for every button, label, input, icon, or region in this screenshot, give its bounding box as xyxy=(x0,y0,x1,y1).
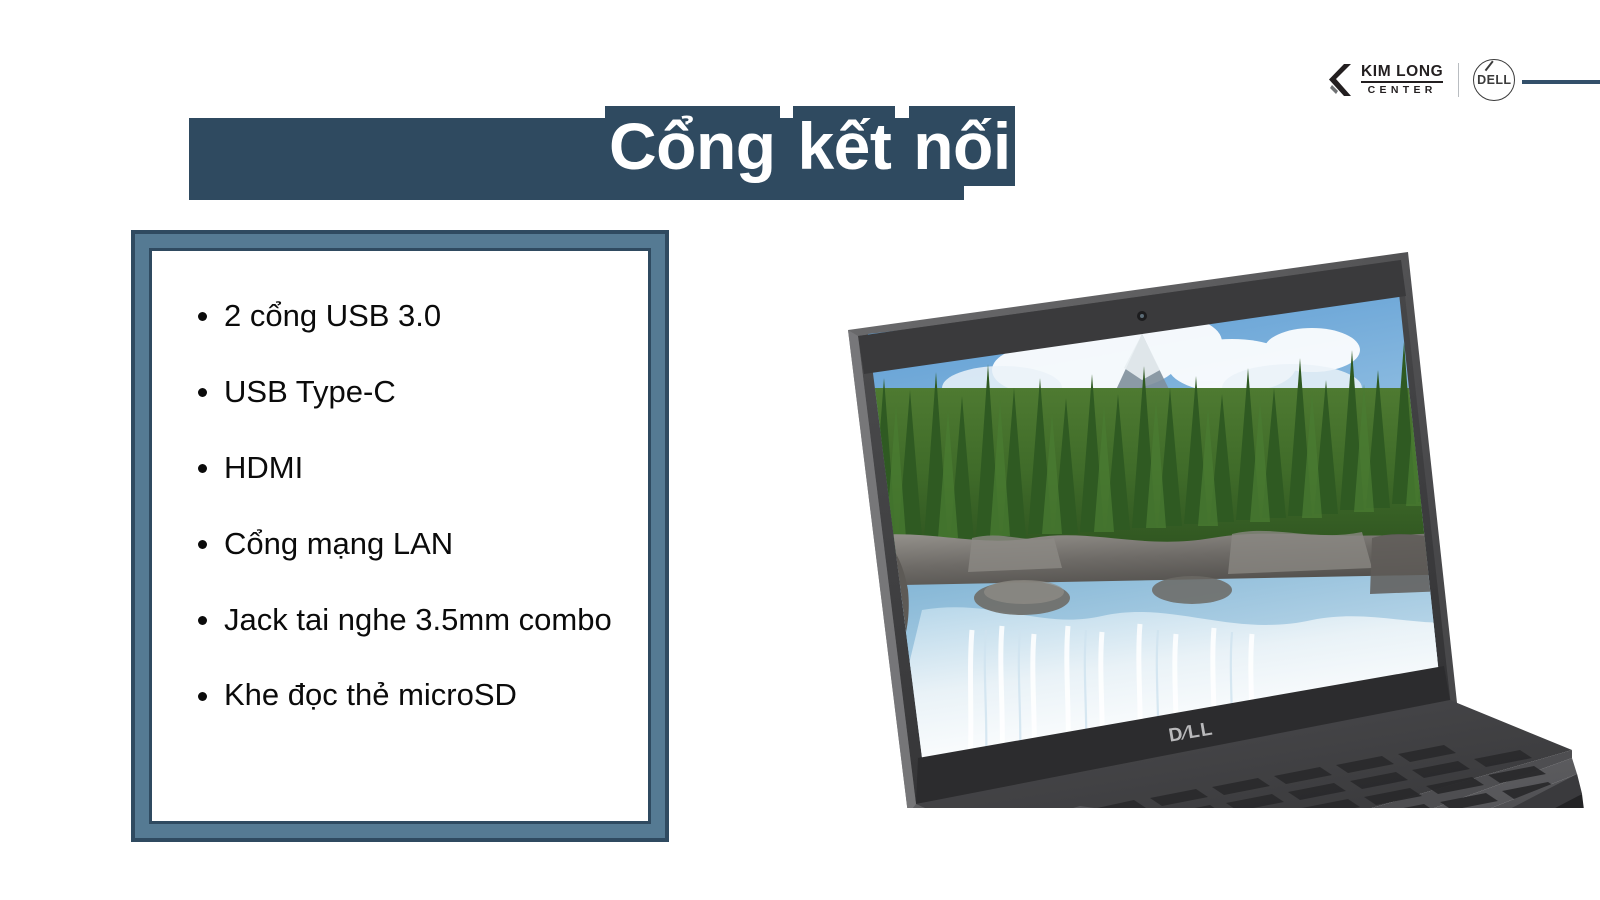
list-item-label: 2 cổng USB 3.0 xyxy=(224,298,441,333)
page-title: Cổng kết nối xyxy=(608,104,1012,188)
list-item-label: Jack tai nghe 3.5mm combo xyxy=(224,602,612,637)
brand-bar: KIM LONG CENTER DELL xyxy=(1326,52,1515,108)
bullet-dot-icon xyxy=(198,692,207,701)
brand-separator xyxy=(1458,63,1459,97)
bullet-dot-icon xyxy=(198,388,207,397)
list-item-label: Cổng mạng LAN xyxy=(224,526,453,561)
kim-long-center-logo: KIM LONG CENTER xyxy=(1326,63,1443,97)
laptop-product-image: D⁄LL xyxy=(672,238,1592,808)
list-item: HDMI xyxy=(224,445,628,491)
title-word-1: Cổng xyxy=(608,109,777,183)
bullet-dot-icon xyxy=(198,540,207,549)
kim-long-chevron-icon xyxy=(1326,63,1354,97)
dell-logo: DELL xyxy=(1473,59,1515,101)
kim-long-text: KIM LONG xyxy=(1361,64,1443,80)
brand-accent-line xyxy=(1522,80,1600,84)
list-item: Khe đọc thẻ microSD xyxy=(224,672,628,718)
dell-wordmark: DELL xyxy=(1477,74,1511,87)
title-word-3: nối xyxy=(912,109,1011,183)
port-list: 2 cổng USB 3.0 USB Type-C HDMI Cổng xyxy=(198,293,628,718)
list-item: USB Type-C xyxy=(224,369,628,415)
bullet-dot-icon xyxy=(198,616,207,625)
kim-long-center-wordmark: KIM LONG CENTER xyxy=(1361,64,1443,96)
slide-canvas: KIM LONG CENTER DELL Cổng kết nối 2 c xyxy=(0,0,1600,900)
spec-card: 2 cổng USB 3.0 USB Type-C HDMI Cổng xyxy=(131,230,669,842)
dell-slash-icon xyxy=(1484,61,1493,71)
list-item: 2 cổng USB 3.0 xyxy=(224,293,628,339)
bullet-dot-icon xyxy=(198,464,207,473)
list-item: Jack tai nghe 3.5mm combo xyxy=(224,597,628,643)
center-text: CENTER xyxy=(1361,85,1443,96)
spec-card-band: 2 cổng USB 3.0 USB Type-C HDMI Cổng xyxy=(135,234,665,838)
list-item-label: Khe đọc thẻ microSD xyxy=(224,677,517,712)
list-item-label: USB Type-C xyxy=(224,374,396,409)
bullet-dot-icon xyxy=(198,312,207,321)
spec-card-body: 2 cổng USB 3.0 USB Type-C HDMI Cổng xyxy=(152,251,648,821)
spec-card-inner-border: 2 cổng USB 3.0 USB Type-C HDMI Cổng xyxy=(149,248,651,824)
list-item: Cổng mạng LAN xyxy=(224,521,628,567)
title-word-2: kết xyxy=(796,109,892,183)
list-item-label: HDMI xyxy=(224,450,303,485)
